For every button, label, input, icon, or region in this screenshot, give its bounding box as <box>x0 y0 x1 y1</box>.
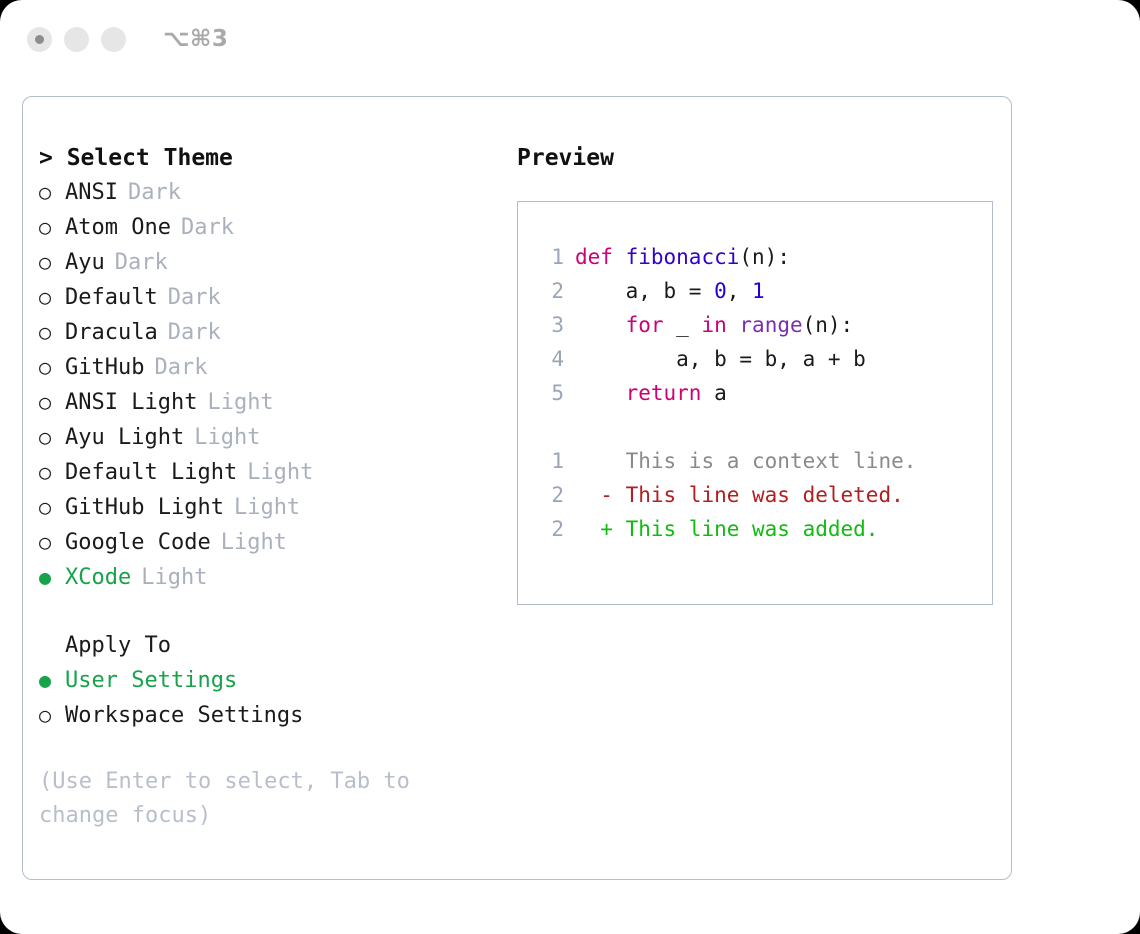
apply-to-label: Workspace Settings <box>65 699 303 733</box>
theme-variant-tag: Light <box>221 526 287 560</box>
panel-columns: > Select Theme ○ANSIDark○Atom OneDark○Ay… <box>23 97 1011 833</box>
theme-list-item[interactable]: ○AyuDark <box>39 245 499 280</box>
theme-variant-tag: Dark <box>128 176 181 210</box>
theme-list-item[interactable]: ○Ayu LightLight <box>39 420 499 455</box>
radio-unselected-icon[interactable]: ○ <box>39 210 65 244</box>
apply-to-heading: Apply To <box>39 629 499 663</box>
apply-to-option[interactable]: ○Workspace Settings <box>39 698 499 733</box>
radio-unselected-icon[interactable]: ○ <box>39 420 65 454</box>
apply-to-option[interactable]: ●User Settings <box>39 663 499 698</box>
line-number: 2 <box>536 274 564 308</box>
radio-unselected-icon[interactable]: ○ <box>39 385 65 419</box>
theme-list-item[interactable]: ○GitHubDark <box>39 350 499 385</box>
line-number: 1 <box>536 240 564 274</box>
theme-variant-tag: Light <box>234 491 300 525</box>
window-dot-third-icon[interactable] <box>101 27 126 52</box>
code-token: a <box>701 376 726 410</box>
theme-list-item[interactable]: ○DefaultDark <box>39 280 499 315</box>
diff-sign: - <box>575 478 613 512</box>
diff-text: This line was deleted. <box>613 478 904 512</box>
radio-selected-icon[interactable]: ● <box>39 663 65 697</box>
code-token: a, b = <box>575 274 714 308</box>
code-line: 5 return a <box>536 376 992 410</box>
theme-list-item[interactable]: ○Default LightLight <box>39 455 499 490</box>
theme-name: Ayu Light <box>65 421 184 455</box>
theme-name: XCode <box>65 561 131 595</box>
theme-list-item[interactable]: ○Google CodeLight <box>39 525 499 560</box>
code-line: 3 for _ in range(n): <box>536 308 992 342</box>
preview-heading: Preview <box>517 141 1011 175</box>
theme-name: Default Light <box>65 456 237 490</box>
code-diff-spacer <box>536 410 992 444</box>
code-line: 4 a, b = b, a + b <box>536 342 992 376</box>
theme-name: Atom One <box>65 211 171 245</box>
window-controls <box>27 27 126 52</box>
line-number: 4 <box>536 342 564 376</box>
theme-name: GitHub <box>65 351 144 385</box>
diff-text: This is a context line. <box>613 444 916 478</box>
radio-unselected-icon[interactable]: ○ <box>39 315 65 349</box>
code-token: in <box>701 308 726 342</box>
radio-unselected-icon[interactable]: ○ <box>39 280 65 314</box>
code-token: _ <box>664 308 702 342</box>
radio-unselected-icon[interactable]: ○ <box>39 455 65 489</box>
theme-variant-tag: Dark <box>154 351 207 385</box>
code-token: a, b = b, a + b <box>575 342 866 376</box>
code-token: 1 <box>752 274 765 308</box>
code-token: def <box>575 240 613 274</box>
line-number: 2 <box>536 512 564 546</box>
theme-variant-tag: Light <box>141 561 207 595</box>
code-token <box>575 376 626 410</box>
window-dot-inner <box>35 35 44 44</box>
code-token: for <box>626 308 664 342</box>
diff-line: 1 This is a context line. <box>536 444 992 478</box>
theme-selector-column: > Select Theme ○ANSIDark○Atom OneDark○Ay… <box>39 141 499 833</box>
window-dot-active-icon[interactable] <box>27 27 52 52</box>
code-token: return <box>626 376 702 410</box>
radio-unselected-icon[interactable]: ○ <box>39 245 65 279</box>
theme-variant-tag: Light <box>207 386 273 420</box>
line-number: 2 <box>536 478 564 512</box>
code-token: range <box>739 308 802 342</box>
theme-variant-tag: Dark <box>168 316 221 350</box>
select-theme-heading: > Select Theme <box>39 141 499 175</box>
theme-name: ANSI Light <box>65 386 197 420</box>
theme-name: ANSI <box>65 176 118 210</box>
radio-unselected-icon[interactable]: ○ <box>39 525 65 559</box>
theme-variant-tag: Light <box>194 421 260 455</box>
code-sample: 1def fibonacci(n):2 a, b = 0, 13 for _ i… <box>536 240 992 410</box>
code-token: fibonacci <box>626 240 740 274</box>
radio-selected-icon[interactable]: ● <box>39 560 65 594</box>
line-number: 5 <box>536 376 564 410</box>
radio-unselected-icon[interactable]: ○ <box>39 350 65 384</box>
code-line: 2 a, b = 0, 1 <box>536 274 992 308</box>
code-token: (n): <box>803 308 854 342</box>
line-number: 3 <box>536 308 564 342</box>
theme-name: Ayu <box>65 246 105 280</box>
diff-text: This line was added. <box>613 512 879 546</box>
code-token <box>575 308 626 342</box>
theme-list-item[interactable]: ●XCodeLight <box>39 560 499 595</box>
code-token: 0 <box>714 274 727 308</box>
theme-name: GitHub Light <box>65 491 224 525</box>
radio-unselected-icon[interactable]: ○ <box>39 698 65 732</box>
diff-sign: + <box>575 512 613 546</box>
theme-list-item[interactable]: ○ANSIDark <box>39 175 499 210</box>
line-number: 1 <box>536 444 564 478</box>
diff-sign <box>575 444 613 478</box>
theme-name: Default <box>65 281 158 315</box>
code-token <box>613 240 626 274</box>
preview-box: 1def fibonacci(n):2 a, b = 0, 13 for _ i… <box>517 201 993 605</box>
theme-name: Google Code <box>65 526 211 560</box>
theme-list[interactable]: ○ANSIDark○Atom OneDark○AyuDark○DefaultDa… <box>39 175 499 595</box>
keyboard-shortcut-label: ⌥⌘3 <box>163 26 228 52</box>
app-window: ⌥⌘3 > Select Theme ○ANSIDark○Atom OneDar… <box>0 0 1140 934</box>
preview-column: Preview 1def fibonacci(n):2 a, b = 0, 13… <box>499 141 1011 833</box>
theme-list-item[interactable]: ○DraculaDark <box>39 315 499 350</box>
apply-to-list[interactable]: ●User Settings○Workspace Settings <box>39 663 499 733</box>
radio-unselected-icon[interactable]: ○ <box>39 490 65 524</box>
main-panel: > Select Theme ○ANSIDark○Atom OneDark○Ay… <box>22 96 1012 880</box>
theme-variant-tag: Dark <box>168 281 221 315</box>
code-token <box>727 308 740 342</box>
keyboard-hint-text: (Use Enter to select, Tab to change focu… <box>39 765 439 833</box>
theme-list-item[interactable]: ○ANSI LightLight <box>39 385 499 420</box>
theme-name: Dracula <box>65 316 158 350</box>
theme-variant-tag: Light <box>247 456 313 490</box>
code-token: , <box>727 274 752 308</box>
diff-line: 2 - This line was deleted. <box>536 478 992 512</box>
code-token: (n): <box>739 240 790 274</box>
radio-unselected-icon[interactable]: ○ <box>39 175 65 209</box>
theme-variant-tag: Dark <box>181 211 234 245</box>
diff-sample: 1 This is a context line.2 - This line w… <box>536 444 992 546</box>
theme-variant-tag: Dark <box>115 246 168 280</box>
diff-line: 2 + This line was added. <box>536 512 992 546</box>
window-dot-second-icon[interactable] <box>64 27 89 52</box>
code-line: 1def fibonacci(n): <box>536 240 992 274</box>
theme-list-item[interactable]: ○GitHub LightLight <box>39 490 499 525</box>
theme-list-item[interactable]: ○Atom OneDark <box>39 210 499 245</box>
title-bar: ⌥⌘3 <box>0 0 1140 78</box>
apply-to-label: User Settings <box>65 664 237 698</box>
